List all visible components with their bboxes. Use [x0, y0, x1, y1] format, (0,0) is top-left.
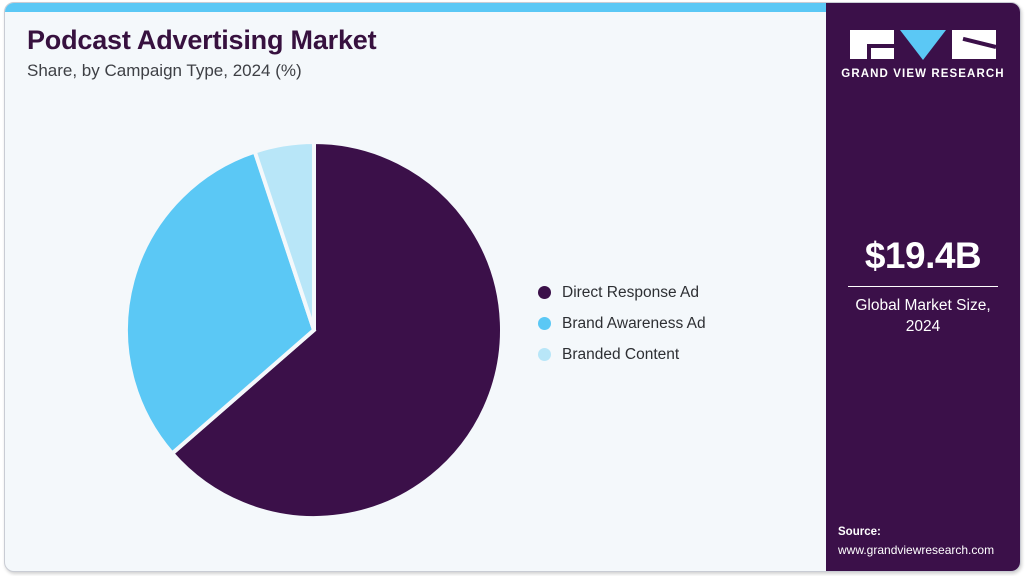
pie-chart-svg: [126, 142, 502, 518]
brand-logo: GRAND VIEW RESEARCH: [826, 30, 1020, 80]
legend-item-label: Direct Response Ad: [562, 284, 699, 302]
logo-v-triangle-icon: [900, 30, 946, 60]
stat-caption: Global Market Size, 2024: [838, 296, 1008, 338]
page-subtitle: Share, by Campaign Type, 2024 (%): [27, 61, 787, 81]
chart-header: Podcast Advertising Market Share, by Cam…: [27, 25, 787, 81]
stat-divider: [848, 286, 998, 287]
stat-value: $19.4B: [838, 237, 1008, 274]
chart-card: Podcast Advertising Market Share, by Cam…: [4, 2, 1021, 572]
legend-swatch-icon: [538, 286, 551, 299]
legend-item[interactable]: Brand Awareness Ad: [538, 308, 706, 339]
accent-top-bar: [5, 3, 830, 12]
pie-chart: [126, 142, 502, 518]
logo-marks: [826, 30, 1020, 60]
legend-swatch-icon: [538, 317, 551, 330]
logo-g-icon: [850, 30, 894, 59]
legend-item-label: Branded Content: [562, 346, 679, 364]
stat-block: $19.4B Global Market Size, 2024: [826, 237, 1020, 338]
legend-swatch-icon: [538, 348, 551, 361]
page-title: Podcast Advertising Market: [27, 25, 787, 56]
legend-item[interactable]: Branded Content: [538, 339, 706, 370]
side-panel: GRAND VIEW RESEARCH $19.4B Global Market…: [826, 3, 1020, 572]
source-block: Source: www.grandviewresearch.com: [838, 524, 1010, 559]
legend-item-label: Brand Awareness Ad: [562, 315, 706, 333]
source-label: Source:: [838, 524, 1010, 541]
logo-r-icon: [952, 30, 996, 59]
chart-legend: Direct Response AdBrand Awareness AdBran…: [538, 277, 706, 370]
source-url[interactable]: www.grandviewresearch.com: [838, 542, 1010, 559]
logo-wordmark: GRAND VIEW RESEARCH: [826, 68, 1020, 80]
legend-item[interactable]: Direct Response Ad: [538, 277, 706, 308]
